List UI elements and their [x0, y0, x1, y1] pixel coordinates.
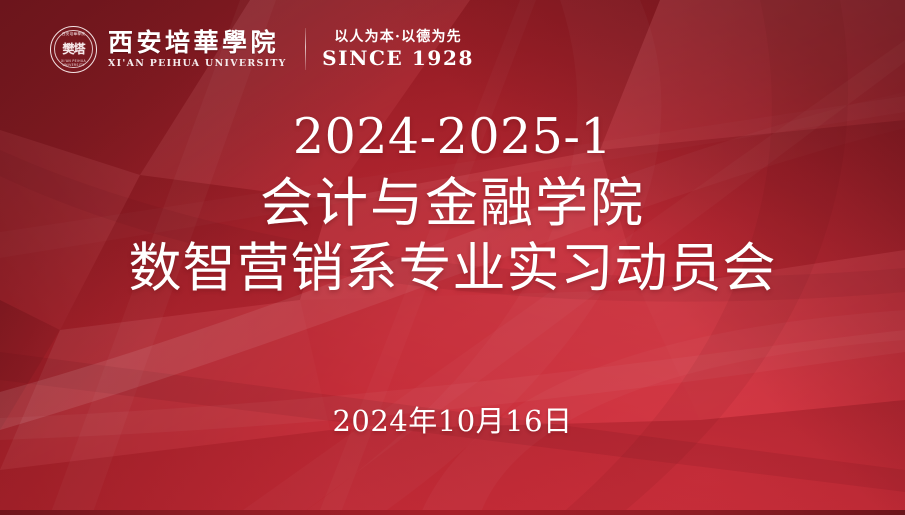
- university-name-group: 西安培華學院 XI'AN PEIHUA UNIVERSITY: [108, 30, 287, 69]
- bottom-accent-bar: [0, 510, 905, 515]
- academic-term-line: 2024-2025-1: [0, 112, 905, 161]
- college-name-line: 会计与金融学院: [0, 175, 905, 232]
- seal-arc-bottom-text: XI'AN PEIHUA UNIVERSITY: [51, 59, 96, 67]
- motto-cn: 以人为本·以德为先: [334, 30, 462, 45]
- seal-arc-top-text: 西安培華學院: [51, 32, 96, 37]
- slide-title-block: 2024-2025-1 会计与金融学院 数智营销系专业实习动员会: [0, 112, 905, 297]
- university-motto-group: 以人为本·以德为先 SINCE 1928: [322, 30, 474, 67]
- logo-divider: [305, 28, 306, 70]
- slide-date: 2024年10月16日: [0, 407, 905, 436]
- university-logo-lockup: 西安培華學院 樊塔 XI'AN PEIHUA UNIVERSITY 西安培華學院…: [50, 22, 474, 76]
- university-name-en: XI'AN PEIHUA UNIVERSITY: [108, 59, 287, 68]
- university-seal-icon: 西安培華學院 樊塔 XI'AN PEIHUA UNIVERSITY: [50, 26, 97, 73]
- university-name-cn: 西安培華學院: [108, 30, 287, 56]
- event-title-line: 数智营销系专业实习动员会: [0, 240, 905, 297]
- presentation-slide: 西安培華學院 樊塔 XI'AN PEIHUA UNIVERSITY 西安培華學院…: [0, 0, 905, 515]
- motto-since-year: SINCE 1928: [322, 48, 474, 68]
- seal-center-glyph: 樊塔: [62, 39, 85, 60]
